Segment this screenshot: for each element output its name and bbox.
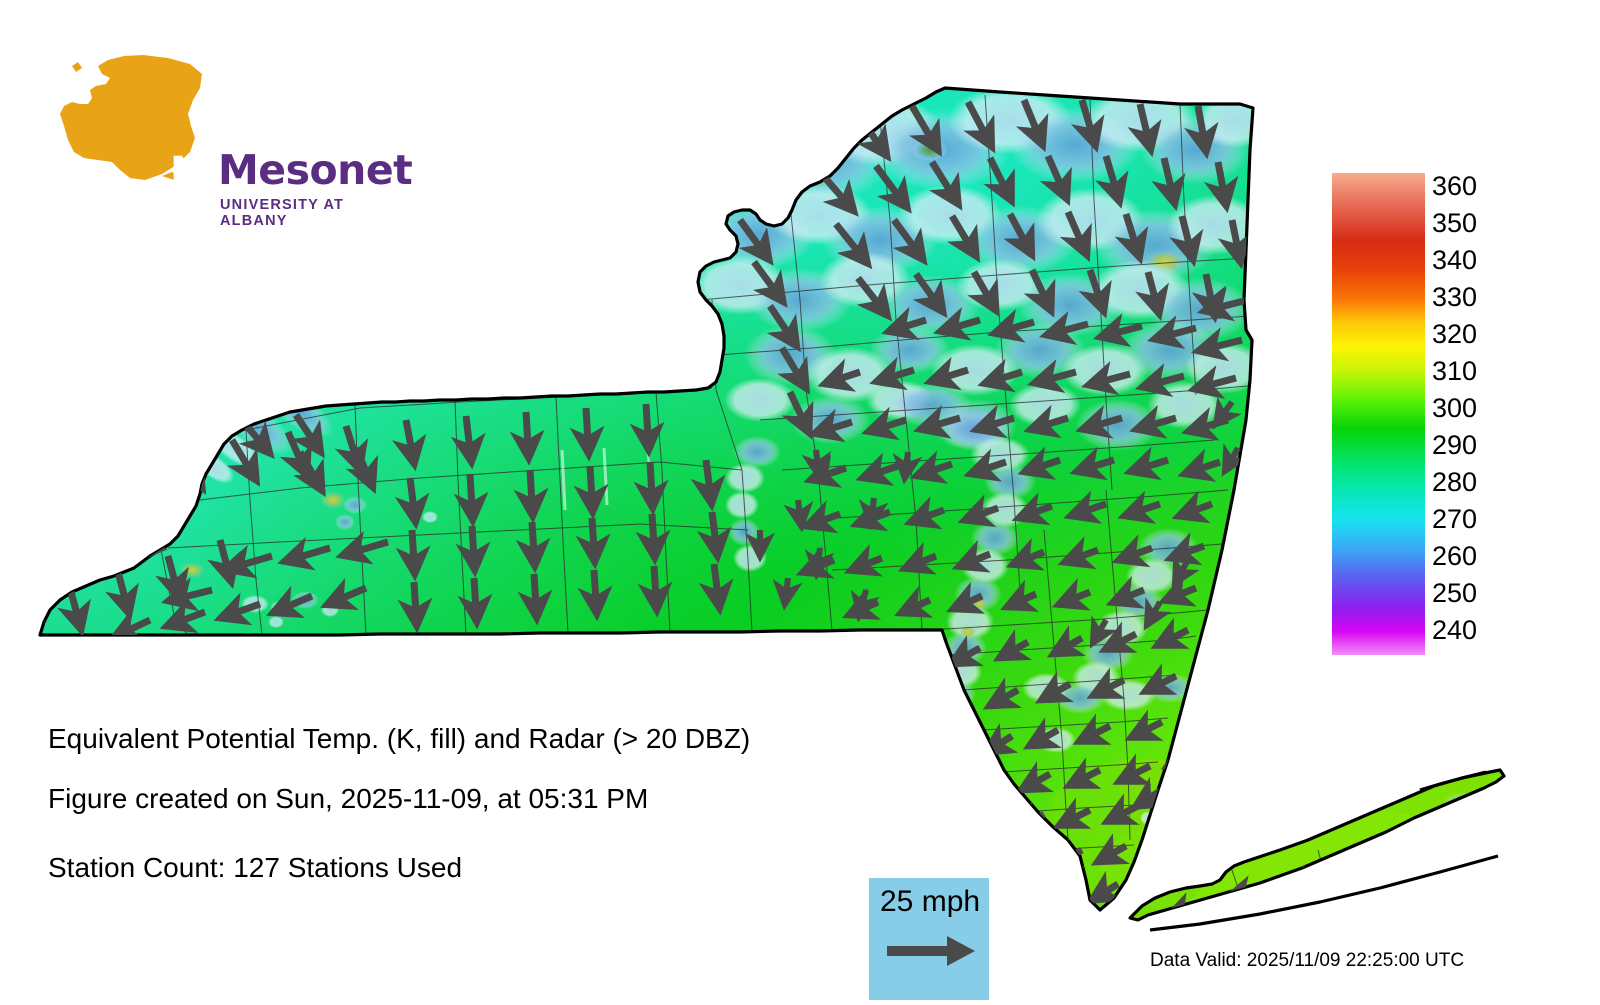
figure-title: Equivalent Potential Temp. (K, fill) and…	[48, 723, 750, 755]
colorbar-tick-240: 240	[1432, 617, 1477, 644]
colorbar-tick-340: 340	[1432, 247, 1477, 274]
wind-arrow-icon	[885, 934, 977, 968]
colorbar-tick-330: 330	[1432, 284, 1477, 311]
colorbar: 360 350 340 330 320 310 300 290 280 270 …	[1332, 173, 1492, 658]
colorbar-tick-300: 300	[1432, 395, 1477, 422]
colorbar-tick-360: 360	[1432, 173, 1477, 200]
figure-canvas: NYS Mesonet UNIVERSITY AT ALBANY	[0, 0, 1600, 1000]
wind-speed-legend: 25 mph	[869, 878, 989, 1000]
colorbar-tick-260: 260	[1432, 543, 1477, 570]
figure-created-timestamp: Figure created on Sun, 2025-11-09, at 05…	[48, 783, 648, 815]
colorbar-tick-270: 270	[1432, 506, 1477, 533]
colorbar-tick-280: 280	[1432, 469, 1477, 496]
colorbar-gradient	[1332, 173, 1425, 655]
colorbar-tick-350: 350	[1432, 210, 1477, 237]
data-valid-timestamp: Data Valid: 2025/11/09 22:25:00 UTC	[1150, 950, 1464, 972]
colorbar-tick-320: 320	[1432, 321, 1477, 348]
colorbar-tick-250: 250	[1432, 580, 1477, 607]
station-count-label: Station Count: 127 Stations Used	[48, 852, 462, 884]
colorbar-tick-310: 310	[1432, 358, 1477, 385]
wind-speed-legend-label: 25 mph	[880, 885, 980, 919]
colorbar-tick-290: 290	[1432, 432, 1477, 459]
